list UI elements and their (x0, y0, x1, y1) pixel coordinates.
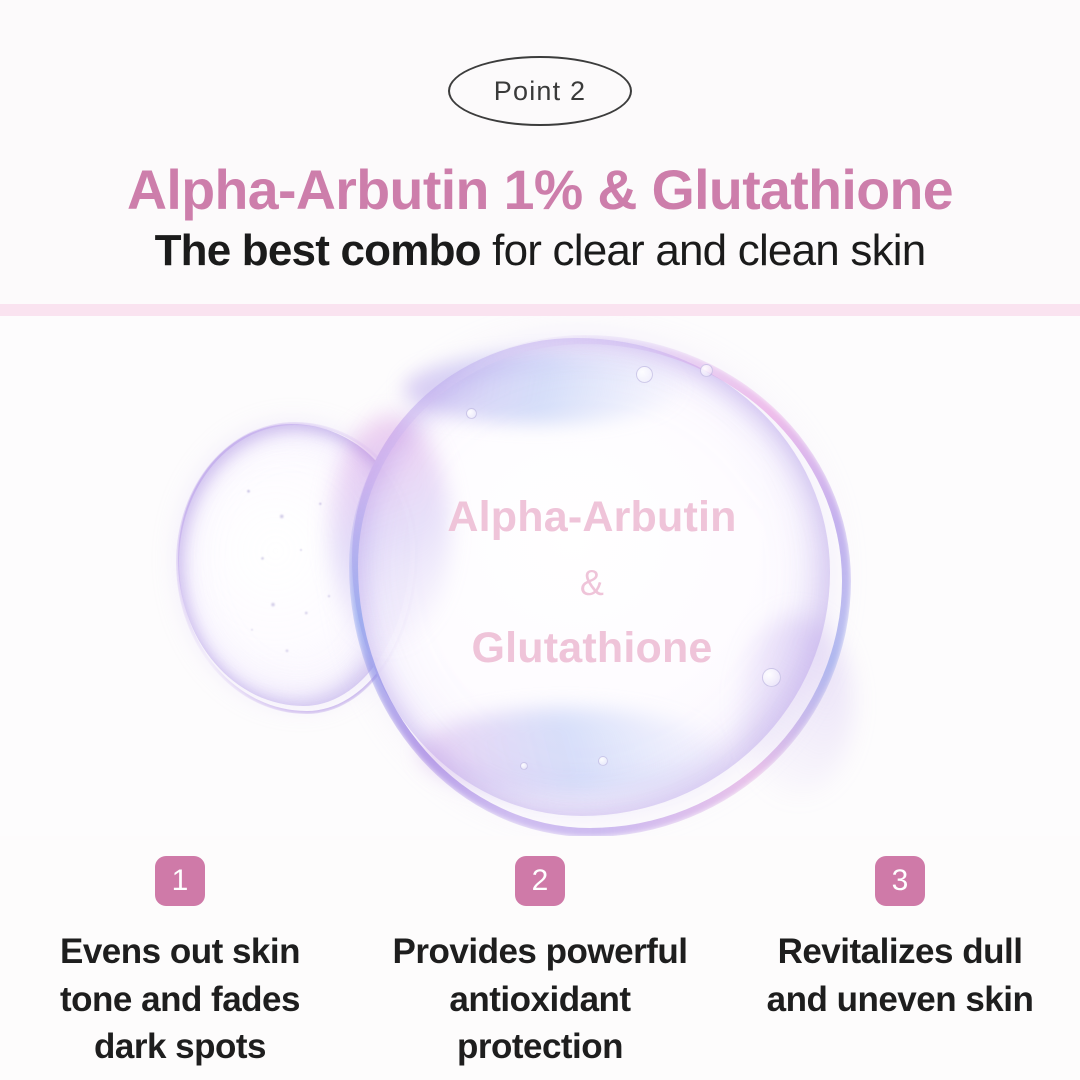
benefit-number-badge: 1 (155, 856, 205, 906)
benefit-number-badge: 2 (515, 856, 565, 906)
benefit-item: 2 Provides powerful antioxidant protecti… (360, 840, 720, 1071)
benefit-item: 3 Revitalizes dull and uneven skin (720, 840, 1080, 1023)
benefit-item: 1 Evens out skin tone and fades dark spo… (0, 840, 360, 1071)
hero-image-section: Alpha-Arbutin & Glutathione (0, 316, 1080, 836)
ingredient-overlay-line2: Glutathione (400, 627, 784, 670)
air-bubble-icon (466, 408, 477, 419)
header-section: Point 2 Alpha-Arbutin 1% & Glutathione T… (0, 0, 1080, 300)
benefit-number-badge: 3 (875, 856, 925, 906)
gel-illustration: Alpha-Arbutin & Glutathione (0, 316, 1080, 836)
air-bubble-icon (520, 762, 528, 770)
ingredient-overlay-line1: Alpha-Arbutin (400, 496, 784, 539)
point-badge: Point 2 (448, 56, 632, 126)
page-subtitle-rest: for clear and clean skin (481, 226, 926, 275)
page-subtitle: The best combo for clear and clean skin (0, 226, 1080, 276)
point-badge-label: Point 2 (494, 76, 586, 107)
air-bubble-icon (762, 668, 781, 687)
divider (0, 304, 1080, 316)
ingredient-overlay-label: Alpha-Arbutin & Glutathione (400, 496, 784, 670)
air-bubble-icon (700, 364, 713, 377)
page-title: Alpha-Arbutin 1% & Glutathione (5, 157, 1074, 222)
air-bubble-icon (598, 756, 608, 766)
benefits-section: 1 Evens out skin tone and fades dark spo… (0, 840, 1080, 1080)
page-subtitle-strong: The best combo (155, 226, 481, 275)
ingredient-overlay-ampersand: & (400, 565, 784, 601)
infographic-page: Point 2 Alpha-Arbutin 1% & Glutathione T… (0, 0, 1080, 1080)
benefit-description: Evens out skin tone and fades dark spots (25, 928, 335, 1071)
benefit-description: Provides powerful antioxidant protection (385, 928, 695, 1071)
benefit-description: Revitalizes dull and uneven skin (745, 928, 1055, 1023)
air-bubble-icon (636, 366, 653, 383)
